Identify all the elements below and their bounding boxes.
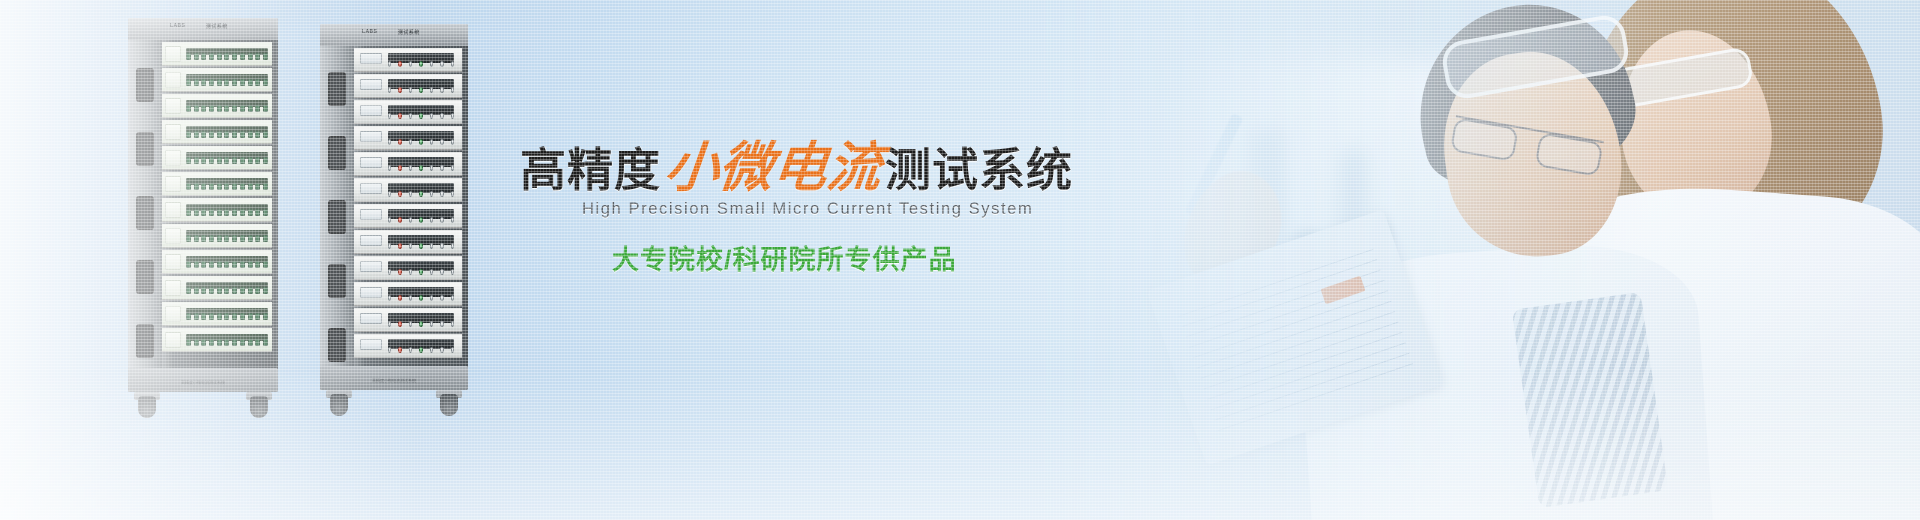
rack-vent-slot [328, 200, 346, 234]
rack-instrument-unit [354, 282, 462, 306]
unit-port [263, 105, 268, 112]
unit-control-knob [451, 295, 454, 301]
rack-one-top-panel [128, 18, 278, 40]
unit-port [186, 313, 191, 320]
unit-control-knob [388, 191, 391, 197]
unit-port [186, 183, 191, 190]
unit-port [201, 131, 206, 138]
unit-control-knob [409, 217, 412, 223]
unit-control-knob [451, 347, 454, 353]
unit-control-knob [388, 295, 391, 301]
unit-left-panel [165, 332, 181, 348]
unit-control-knob [451, 139, 454, 145]
unit-control-knob [440, 243, 443, 249]
unit-port [217, 53, 222, 60]
rack-instrument-unit [162, 146, 272, 170]
unit-control-knob [419, 165, 422, 171]
unit-port [194, 105, 199, 112]
unit-control-row [388, 138, 454, 146]
unit-control-knob [430, 165, 433, 171]
unit-port [255, 131, 260, 138]
unit-port [186, 261, 191, 268]
unit-port-row [186, 286, 268, 295]
rack-vent-slot [328, 264, 346, 298]
unit-control-knob [440, 61, 443, 67]
unit-port [248, 131, 253, 138]
rack-two-base-label: 高精度小微电流测试系统 [372, 378, 416, 384]
unit-port [224, 53, 229, 60]
unit-port [209, 261, 214, 268]
unit-port [263, 209, 268, 216]
rack-instrument-unit [354, 100, 462, 124]
headline-prefix: 高精度 [520, 144, 661, 196]
unit-led-display [360, 183, 382, 194]
unit-port-row [186, 130, 268, 139]
unit-port [240, 287, 245, 294]
rack-one-model: 测试系统 [206, 23, 228, 30]
unit-port [194, 235, 199, 242]
unit-control-knob [419, 139, 422, 145]
unit-port [224, 157, 229, 164]
unit-port [255, 313, 260, 320]
unit-control-knob [388, 113, 391, 119]
unit-port [224, 131, 229, 138]
rack-instrument-unit [354, 74, 462, 98]
unit-port [240, 53, 245, 60]
unit-control-knob [440, 217, 443, 223]
unit-control-knob [451, 165, 454, 171]
unit-left-panel [165, 46, 181, 62]
unit-port [232, 261, 237, 268]
rack-instrument-unit [354, 230, 462, 254]
unit-port [240, 209, 245, 216]
unit-control-knob [388, 217, 391, 223]
unit-port [209, 183, 214, 190]
rack-vent-slot [136, 196, 154, 230]
rack-one-side-panel [128, 40, 162, 392]
unit-control-knob [398, 139, 401, 145]
rack-instrument-unit [354, 308, 462, 332]
rack-instrument-unit [162, 276, 272, 300]
unit-port [186, 105, 191, 112]
rack-instrument-unit [162, 224, 272, 248]
unit-control-knob [451, 243, 454, 249]
unit-port [240, 339, 245, 346]
unit-control-knob [451, 217, 454, 223]
unit-port [217, 157, 222, 164]
unit-port-row [186, 52, 268, 61]
unit-port [240, 183, 245, 190]
unit-port [240, 79, 245, 86]
unit-port-row [186, 208, 268, 217]
unit-port [255, 209, 260, 216]
unit-port [255, 157, 260, 164]
instrument-rack-one: LABS 测试系统 高精度小微电流测试系统 [128, 18, 278, 418]
unit-port [217, 105, 222, 112]
unit-port [201, 235, 206, 242]
rack-vent-slot [328, 328, 346, 362]
unit-control-knob [430, 113, 433, 119]
rack-vent-slot [136, 324, 154, 358]
unit-port [217, 339, 222, 346]
unit-port [217, 261, 222, 268]
unit-port [209, 79, 214, 86]
unit-control-knob [451, 321, 454, 327]
unit-control-knob [409, 321, 412, 327]
unit-port [224, 105, 229, 112]
rack-instrument-unit [354, 152, 462, 176]
rack-one-brand: LABS [170, 23, 185, 29]
unit-control-knob [430, 269, 433, 275]
instrument-rack-two: LABS 测试系统 高精度小微电流测试系统 [320, 24, 468, 416]
unit-port [255, 287, 260, 294]
unit-port [186, 157, 191, 164]
unit-port [209, 339, 214, 346]
unit-control-row [388, 60, 454, 68]
unit-control-knob [440, 191, 443, 197]
unit-port [248, 339, 253, 346]
rack-instrument-unit [162, 120, 272, 144]
unit-port [248, 105, 253, 112]
headline-suffix: 测试系统 [885, 144, 1073, 196]
unit-left-panel [165, 306, 181, 322]
unit-control-knob [419, 113, 422, 119]
unit-control-knob [398, 191, 401, 197]
unit-port-row [186, 104, 268, 113]
unit-port [224, 209, 229, 216]
unit-led-display [360, 209, 382, 220]
unit-port [232, 105, 237, 112]
rack-two-top-panel [320, 24, 468, 46]
rack-two-side-panel [320, 46, 354, 390]
unit-control-knob [409, 113, 412, 119]
unit-led-display [360, 235, 382, 246]
unit-port [186, 131, 191, 138]
unit-control-knob [409, 87, 412, 93]
banner-tagline: 大专院校/科研院所专供产品 [612, 238, 957, 277]
unit-port [248, 183, 253, 190]
rack-instrument-unit [354, 256, 462, 280]
unit-port [209, 105, 214, 112]
unit-control-knob [409, 347, 412, 353]
unit-control-knob [440, 295, 443, 301]
unit-control-knob [419, 347, 422, 353]
unit-control-knob [430, 243, 433, 249]
unit-control-knob [409, 243, 412, 249]
rack-two-brand: LABS [362, 29, 377, 35]
unit-port [209, 131, 214, 138]
unit-control-knob [388, 139, 391, 145]
unit-control-row [388, 190, 454, 198]
unit-port [263, 183, 268, 190]
unit-control-knob [419, 269, 422, 275]
unit-port [194, 209, 199, 216]
unit-led-display [360, 287, 382, 298]
unit-control-knob [409, 295, 412, 301]
unit-port [224, 339, 229, 346]
unit-control-knob [398, 347, 401, 353]
unit-port [209, 157, 214, 164]
unit-port [209, 53, 214, 60]
unit-control-knob [430, 321, 433, 327]
unit-port [201, 53, 206, 60]
unit-port [240, 313, 245, 320]
rack-instrument-unit [162, 68, 272, 92]
unit-port [232, 157, 237, 164]
unit-control-knob [430, 61, 433, 67]
unit-port [248, 79, 253, 86]
unit-port [201, 287, 206, 294]
unit-port [255, 339, 260, 346]
unit-port [201, 339, 206, 346]
rack-instrument-unit [354, 178, 462, 202]
rack-caster [440, 394, 458, 416]
unit-control-knob [388, 269, 391, 275]
unit-led-display [360, 261, 382, 272]
unit-left-panel [165, 228, 181, 244]
unit-port [240, 235, 245, 242]
unit-control-knob [440, 269, 443, 275]
unit-control-knob [388, 61, 391, 67]
unit-led-display [360, 105, 382, 116]
unit-control-row [388, 268, 454, 276]
unit-port [194, 183, 199, 190]
unit-port [263, 53, 268, 60]
unit-control-knob [419, 217, 422, 223]
rack-instrument-unit [162, 94, 272, 118]
rack-one-base-label: 高精度小微电流测试系统 [181, 380, 225, 386]
rack-vent-slot [328, 72, 346, 106]
unit-control-knob [398, 269, 401, 275]
unit-port [209, 287, 214, 294]
unit-port [201, 209, 206, 216]
unit-control-knob [440, 139, 443, 145]
unit-left-panel [165, 98, 181, 114]
rack-instrument-unit [162, 302, 272, 326]
unit-control-row [388, 164, 454, 172]
unit-control-knob [419, 87, 422, 93]
unit-port [255, 105, 260, 112]
unit-port [263, 339, 268, 346]
unit-port [248, 235, 253, 242]
unit-control-row [388, 346, 454, 354]
unit-port [232, 183, 237, 190]
unit-port-row [186, 338, 268, 347]
unit-control-knob [388, 347, 391, 353]
unit-port [194, 53, 199, 60]
unit-port [194, 261, 199, 268]
unit-control-row [388, 294, 454, 302]
unit-control-knob [440, 321, 443, 327]
unit-control-row [388, 216, 454, 224]
unit-control-knob [440, 87, 443, 93]
unit-control-knob [419, 243, 422, 249]
unit-led-display [360, 313, 382, 324]
rack-instrument-unit [162, 328, 272, 352]
unit-control-knob [409, 139, 412, 145]
unit-port [232, 339, 237, 346]
unit-control-knob [440, 113, 443, 119]
lab-scientists-photo [1040, 0, 1920, 520]
unit-left-panel [165, 280, 181, 296]
unit-port-row [186, 234, 268, 243]
banner-headline: 高精度小微电流测试系统 [520, 140, 1040, 198]
unit-port [186, 287, 191, 294]
unit-port [194, 79, 199, 86]
unit-control-knob [430, 295, 433, 301]
unit-port [232, 235, 237, 242]
rack-instrument-unit [162, 250, 272, 274]
unit-control-knob [398, 321, 401, 327]
unit-control-row [388, 242, 454, 250]
unit-control-knob [430, 139, 433, 145]
unit-port-row [186, 156, 268, 165]
unit-led-display [360, 339, 382, 350]
unit-port [240, 131, 245, 138]
unit-control-knob [430, 217, 433, 223]
unit-control-knob [409, 165, 412, 171]
unit-control-knob [388, 165, 391, 171]
unit-port [217, 131, 222, 138]
unit-control-knob [388, 87, 391, 93]
photo-blue-wash [1040, 0, 1920, 520]
unit-control-knob [398, 217, 401, 223]
unit-port [232, 287, 237, 294]
unit-control-knob [451, 113, 454, 119]
unit-port [240, 105, 245, 112]
unit-port [194, 339, 199, 346]
unit-port [255, 183, 260, 190]
unit-left-panel [165, 124, 181, 140]
unit-port [248, 53, 253, 60]
unit-port [224, 235, 229, 242]
unit-control-knob [430, 191, 433, 197]
unit-port [201, 157, 206, 164]
unit-port [186, 209, 191, 216]
unit-port [232, 209, 237, 216]
unit-port [255, 79, 260, 86]
rack-instrument-unit [354, 204, 462, 228]
unit-port [232, 313, 237, 320]
unit-led-display [360, 157, 382, 168]
unit-control-knob [451, 191, 454, 197]
rack-vent-slot [136, 260, 154, 294]
unit-port [263, 313, 268, 320]
banner-copy: 高精度小微电流测试系统 High Precision Small Micro C… [520, 0, 1040, 520]
unit-port [201, 261, 206, 268]
unit-control-knob [419, 321, 422, 327]
unit-port [248, 157, 253, 164]
unit-left-panel [165, 176, 181, 192]
unit-control-knob [430, 347, 433, 353]
unit-port [248, 313, 253, 320]
unit-control-knob [419, 295, 422, 301]
unit-port-row [186, 182, 268, 191]
unit-control-knob [409, 269, 412, 275]
unit-led-display [360, 131, 382, 142]
unit-control-knob [451, 61, 454, 67]
unit-port [217, 209, 222, 216]
unit-control-knob [398, 61, 401, 67]
unit-port [186, 339, 191, 346]
rack-vent-slot [136, 132, 154, 166]
rack-instrument-unit [162, 172, 272, 196]
unit-control-knob [398, 165, 401, 171]
unit-control-knob [398, 295, 401, 301]
banner-subtitle-english: High Precision Small Micro Current Testi… [582, 200, 1033, 219]
unit-port [217, 287, 222, 294]
unit-control-row [388, 320, 454, 328]
unit-control-knob [451, 87, 454, 93]
unit-left-panel [165, 72, 181, 88]
unit-port [263, 131, 268, 138]
rack-instrument-unit [354, 126, 462, 150]
rack-caster [138, 396, 156, 418]
unit-port [224, 183, 229, 190]
unit-port [232, 79, 237, 86]
unit-port [217, 79, 222, 86]
unit-port [217, 235, 222, 242]
unit-port [209, 209, 214, 216]
unit-port [217, 183, 222, 190]
unit-port [263, 157, 268, 164]
unit-port [255, 53, 260, 60]
unit-port [240, 157, 245, 164]
unit-control-knob [398, 243, 401, 249]
unit-control-knob [440, 165, 443, 171]
unit-port [209, 313, 214, 320]
unit-port [263, 79, 268, 86]
rack-caster [250, 396, 268, 418]
rack-vent-slot [328, 136, 346, 170]
unit-port [194, 287, 199, 294]
unit-port [201, 105, 206, 112]
unit-port [263, 287, 268, 294]
unit-port [217, 313, 222, 320]
unit-port [232, 53, 237, 60]
unit-port [248, 287, 253, 294]
unit-control-knob [419, 191, 422, 197]
unit-led-display [360, 79, 382, 90]
unit-port [186, 235, 191, 242]
rack-two-model: 测试系统 [398, 29, 420, 36]
rack-instrument-unit [162, 42, 272, 66]
rack-instrument-unit [354, 48, 462, 72]
unit-port [255, 261, 260, 268]
rack-caster [330, 394, 348, 416]
unit-port [194, 313, 199, 320]
unit-control-knob [409, 191, 412, 197]
unit-control-knob [430, 87, 433, 93]
unit-control-knob [388, 321, 391, 327]
unit-port [240, 261, 245, 268]
unit-port [194, 131, 199, 138]
unit-port [248, 261, 253, 268]
unit-port [255, 235, 260, 242]
unit-control-knob [398, 113, 401, 119]
rack-instrument-unit [354, 334, 462, 358]
unit-port [224, 79, 229, 86]
unit-control-knob [398, 87, 401, 93]
unit-left-panel [165, 254, 181, 270]
equipment-racks: LABS 测试系统 高精度小微电流测试系统 LABS 测试系统 [0, 0, 520, 520]
unit-port [232, 131, 237, 138]
unit-port [263, 235, 268, 242]
rack-instrument-unit [162, 198, 272, 222]
unit-control-knob [419, 61, 422, 67]
unit-port-row [186, 78, 268, 87]
product-banner: LABS 测试系统 高精度小微电流测试系统 LABS 测试系统 [0, 0, 1920, 520]
